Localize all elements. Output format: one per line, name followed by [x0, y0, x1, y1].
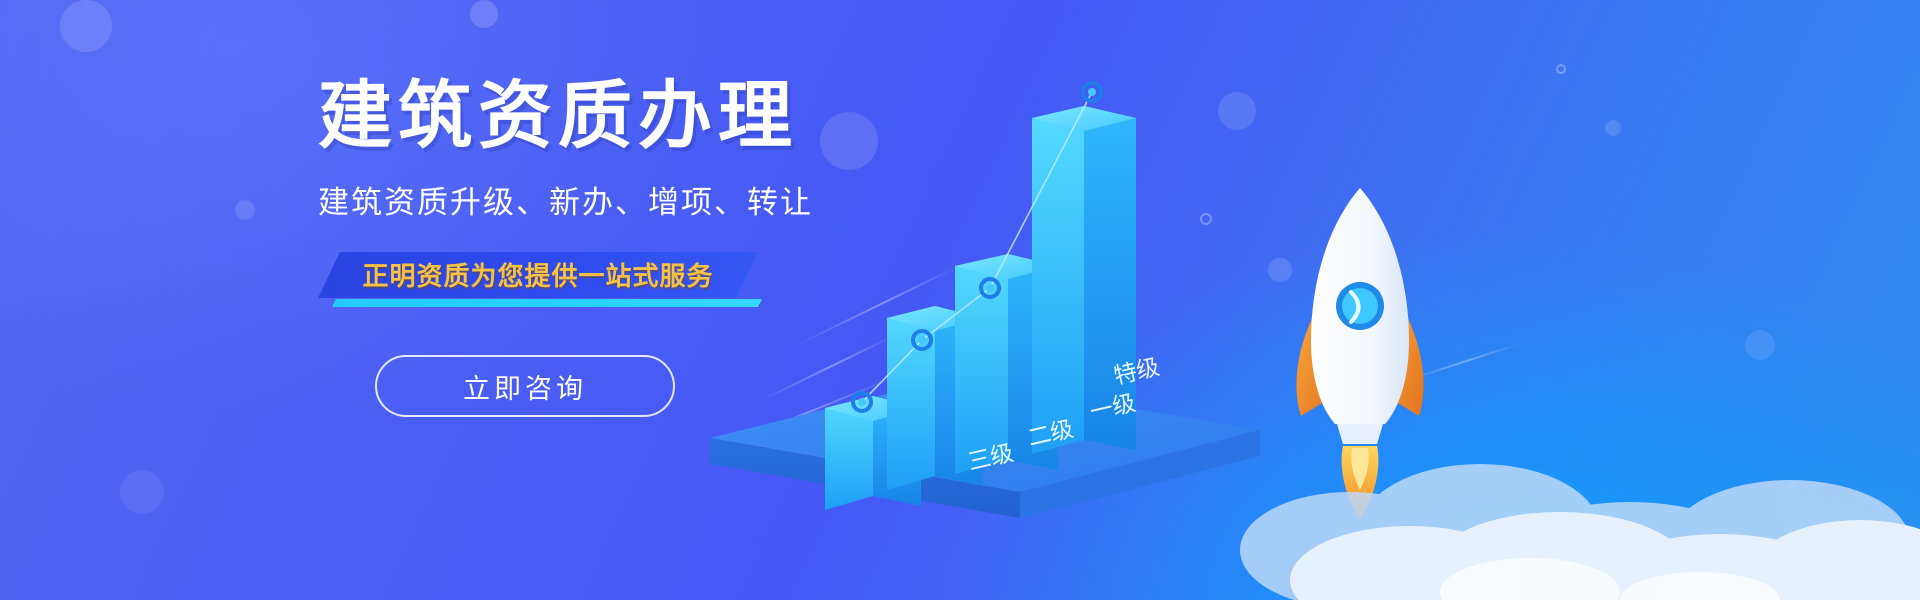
service-ribbon: 正明资质为您提供一站式服务: [318, 252, 758, 304]
decor-bubble: [120, 470, 164, 514]
ribbon-underline: [332, 299, 762, 307]
banner-text-block: 建筑资质办理 建筑资质升级、新办、增项、转让 正明资质为您提供一站式服务: [318, 78, 1038, 304]
decor-bubble: [470, 0, 498, 28]
ribbon-label: 正明资质为您提供一站式服务: [318, 252, 758, 298]
decor-bubble: [235, 200, 255, 220]
page-subtitle: 建筑资质升级、新办、增项、转让: [318, 177, 1038, 222]
cloud-illustration: [1230, 410, 1920, 600]
decor-bubble: [1745, 330, 1775, 360]
consult-now-button[interactable]: 立即咨询: [375, 355, 675, 417]
decor-bubble: [1605, 120, 1621, 136]
decor-ring: [1556, 64, 1566, 74]
decor-bubble: [60, 0, 112, 52]
promo-banner: 三级 二级 一级 特级: [0, 0, 1920, 600]
page-title: 建筑资质办理: [318, 78, 1038, 155]
